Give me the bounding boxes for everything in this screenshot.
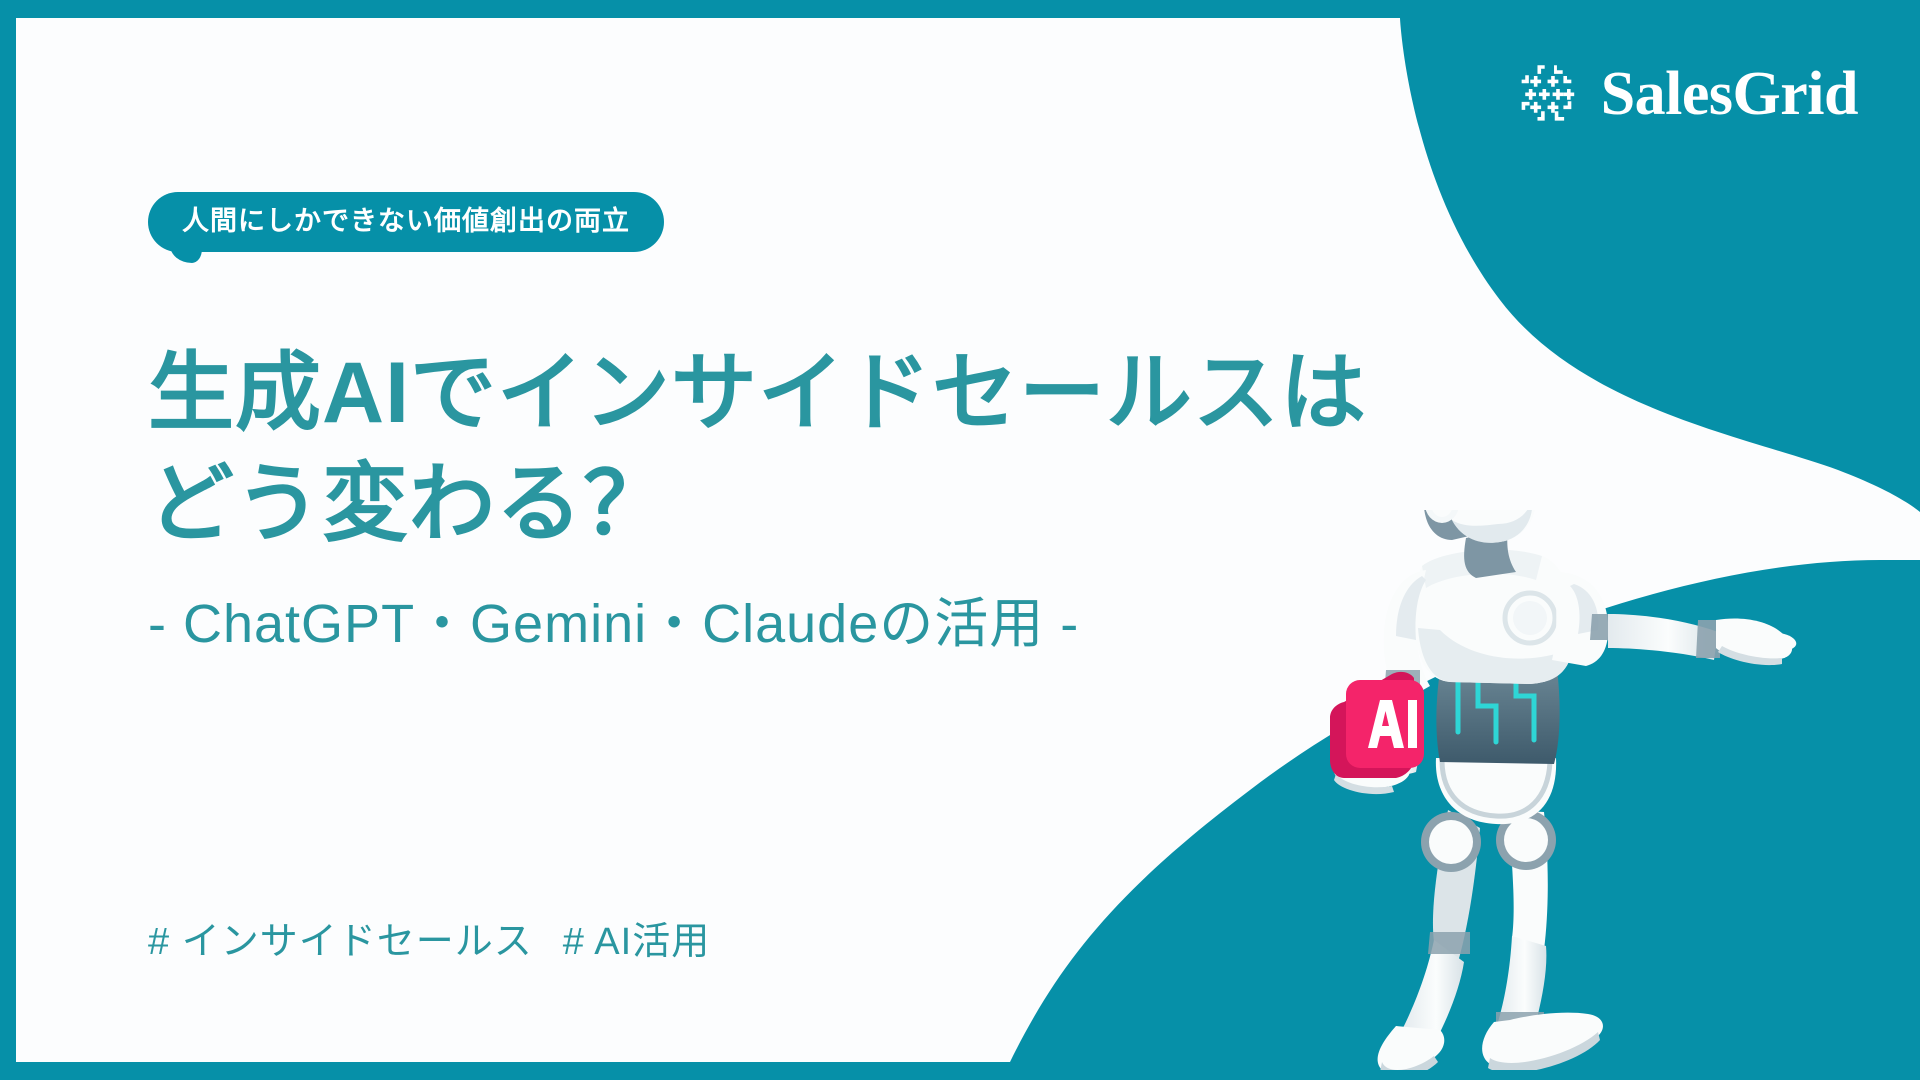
badge-wrapper: 人間にしかできない価値創出の両立 xyxy=(148,192,664,252)
subtitle: - ChatGPT・Gemini・Claudeの活用 - xyxy=(148,592,1079,657)
eyebrow-badge: 人間にしかできない価値創出の両立 xyxy=(148,192,664,252)
hashtag-item-2: # AI活用 xyxy=(563,920,711,966)
headline-line-1: 生成AIでインサイドセールスは xyxy=(148,338,1367,450)
robot-arm-pointing xyxy=(1552,572,1796,666)
headline-line-2: どう変わる？ xyxy=(148,449,1367,561)
brand-name: SalesGrid xyxy=(1601,63,1858,125)
robot-torso xyxy=(1416,550,1574,764)
hashtag-item-1: # インサイドセールス xyxy=(148,920,533,966)
robot-leg-front xyxy=(1482,810,1603,1070)
brand-logo[interactable]: SalesGrid xyxy=(1513,58,1858,130)
slide-content: 人間にしかできない価値創出の両立 生成AIでインサイドセールスは どう変わる？ … xyxy=(148,0,1428,1080)
slide-canvas: SalesGrid 人間にしかできない価値創出の両立 生成AIでインサイドセール… xyxy=(0,0,1920,1080)
page-title: 生成AIでインサイドセールスは どう変わる？ xyxy=(148,338,1367,562)
badge-tail xyxy=(170,241,202,263)
grid-dots-icon xyxy=(1513,58,1585,130)
hashtag-list: # インサイドセールス # AI活用 xyxy=(148,920,710,966)
